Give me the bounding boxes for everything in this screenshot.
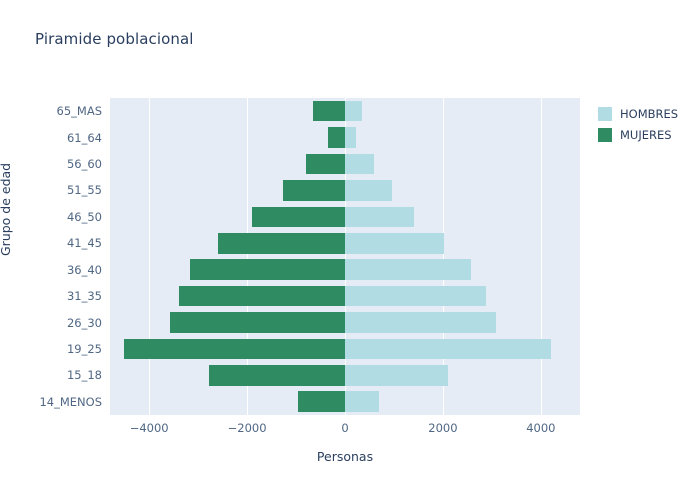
bar-row <box>110 180 580 201</box>
bar-row <box>110 286 580 307</box>
y-tick-31_35: 31_35 <box>67 289 102 303</box>
y-tick-51_55: 51_55 <box>67 183 102 197</box>
x-tick-4000: 4000 <box>526 421 555 435</box>
bar-row <box>110 312 580 333</box>
bar-hombres-26_30[interactable] <box>345 312 496 333</box>
bar-mujeres-14_menos[interactable] <box>298 391 345 412</box>
legend-label: HOMBRES <box>620 107 678 121</box>
y-tick-36_40: 36_40 <box>67 263 102 277</box>
bar-row <box>110 207 580 228</box>
bar-hombres-31_35[interactable] <box>345 286 486 307</box>
bar-mujeres-15_18[interactable] <box>209 365 345 386</box>
bar-mujeres-26_30[interactable] <box>170 312 345 333</box>
bar-row <box>110 259 580 280</box>
y-tick-56_60: 56_60 <box>67 157 102 171</box>
bar-mujeres-31_35[interactable] <box>179 286 345 307</box>
y-tick-41_45: 41_45 <box>67 236 102 250</box>
x-axis-title: Personas <box>317 449 373 464</box>
bar-hombres-61_64[interactable] <box>345 127 356 148</box>
y-tick-61_64: 61_64 <box>67 131 102 145</box>
bar-row <box>110 365 580 386</box>
bar-mujeres-56_60[interactable] <box>306 154 345 175</box>
legend-item-mujeres[interactable]: MUJERES <box>598 125 678 144</box>
bar-row <box>110 339 580 360</box>
x-tick-2000: 2000 <box>428 421 457 435</box>
legend: HOMBRESMUJERES <box>598 104 678 146</box>
plot-area <box>110 98 580 415</box>
legend-item-hombres[interactable]: HOMBRES <box>598 104 678 123</box>
bar-row <box>110 391 580 412</box>
bar-mujeres-36_40[interactable] <box>190 259 345 280</box>
chart-title: Piramide poblacional <box>35 30 194 48</box>
bar-hombres-51_55[interactable] <box>345 180 392 201</box>
bar-mujeres-46_50[interactable] <box>252 207 345 228</box>
bar-mujeres-65_mas[interactable] <box>313 101 345 122</box>
y-tick-14_menos: 14_MENOS <box>39 395 102 409</box>
bar-row <box>110 154 580 175</box>
bar-row <box>110 127 580 148</box>
bar-hombres-15_18[interactable] <box>345 365 448 386</box>
y-tick-19_25: 19_25 <box>67 342 102 356</box>
x-tick-0: 0 <box>341 421 348 435</box>
bar-mujeres-41_45[interactable] <box>218 233 345 254</box>
y-axis-title: Grupo de edad <box>0 163 13 256</box>
y-tick-46_50: 46_50 <box>67 210 102 224</box>
bar-mujeres-51_55[interactable] <box>283 180 345 201</box>
bar-hombres-41_45[interactable] <box>345 233 444 254</box>
x-tick--2000: −2000 <box>228 421 267 435</box>
bar-hombres-65_mas[interactable] <box>345 101 362 122</box>
x-tick--4000: −4000 <box>130 421 169 435</box>
bar-hombres-36_40[interactable] <box>345 259 471 280</box>
bar-mujeres-19_25[interactable] <box>124 339 345 360</box>
y-tick-26_30: 26_30 <box>67 316 102 330</box>
legend-swatch-hombres <box>598 107 612 121</box>
bar-mujeres-61_64[interactable] <box>328 127 345 148</box>
legend-swatch-mujeres <box>598 128 612 142</box>
bar-hombres-56_60[interactable] <box>345 154 374 175</box>
bar-row <box>110 233 580 254</box>
bar-row <box>110 101 580 122</box>
y-tick-15_18: 15_18 <box>67 368 102 382</box>
bar-hombres-14_menos[interactable] <box>345 391 379 412</box>
population-pyramid-chart: Piramide poblacional 14_MENOS15_1819_252… <box>0 0 700 500</box>
bar-hombres-19_25[interactable] <box>345 339 551 360</box>
y-tick-65_mas: 65_MAS <box>57 104 102 118</box>
bar-hombres-46_50[interactable] <box>345 207 414 228</box>
legend-label: MUJERES <box>620 128 672 142</box>
